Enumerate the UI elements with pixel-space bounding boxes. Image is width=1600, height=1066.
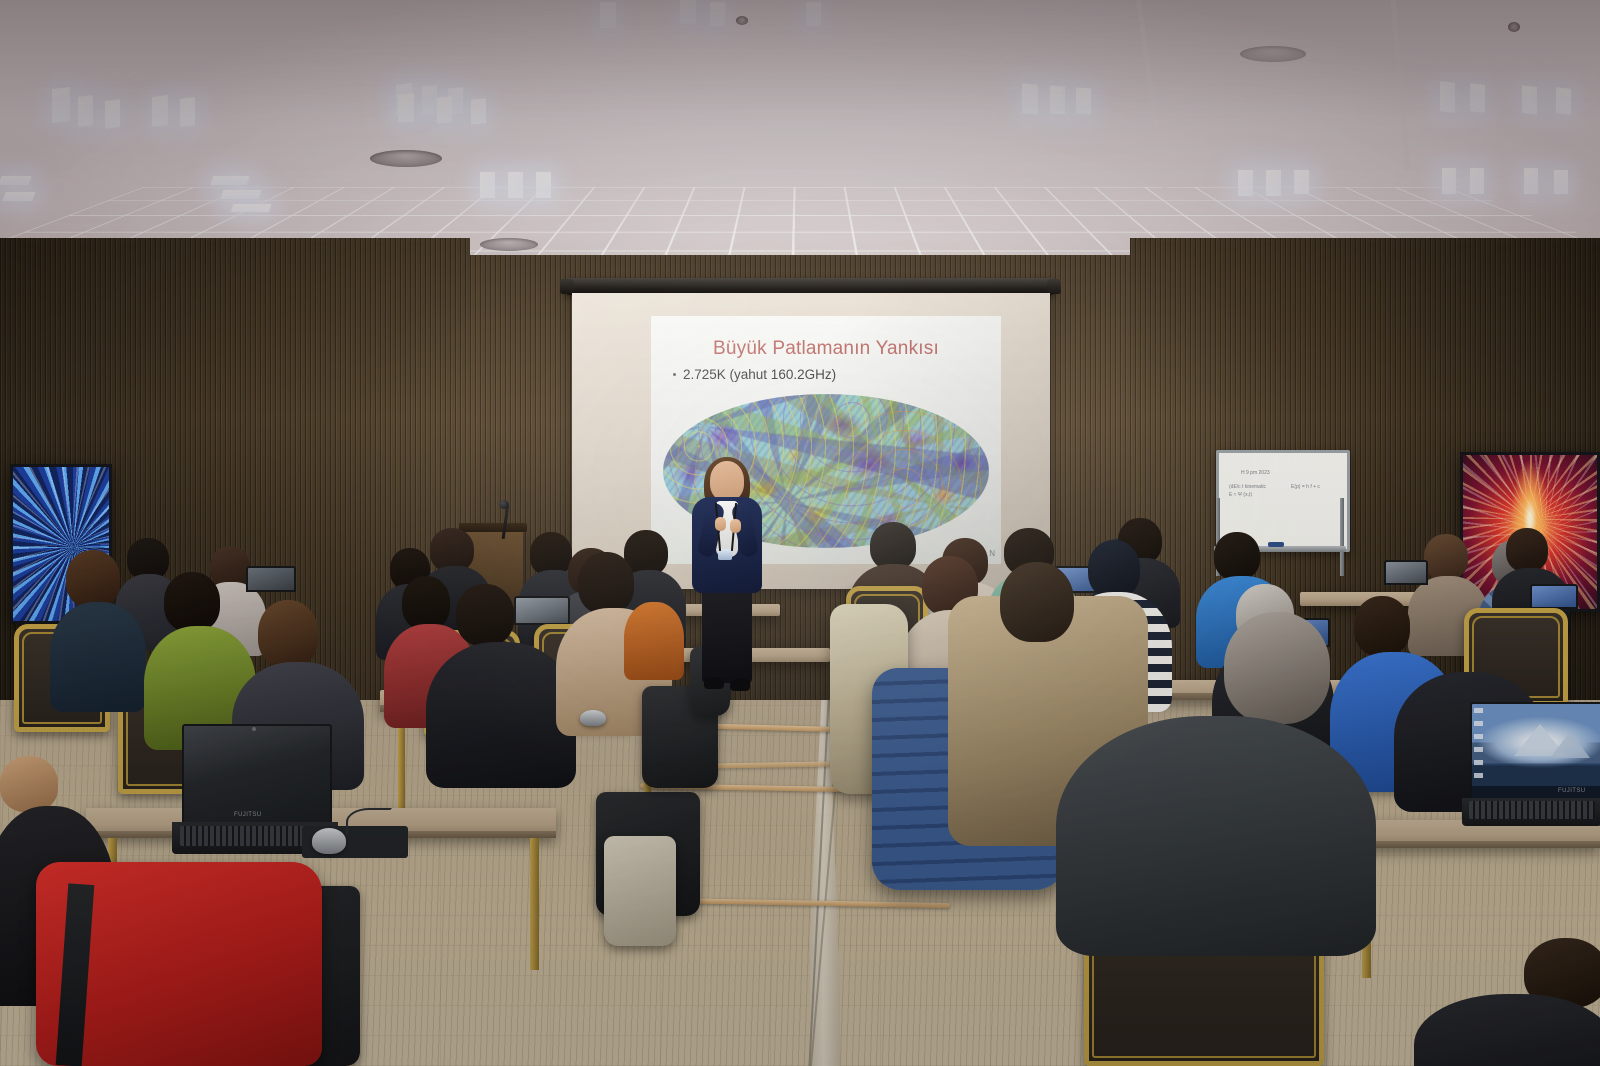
presenter-head bbox=[710, 461, 744, 501]
head bbox=[1424, 534, 1468, 580]
head bbox=[1506, 528, 1548, 572]
laptop-brand-label: FUJITSU bbox=[234, 812, 261, 818]
torso bbox=[1056, 716, 1376, 956]
torso bbox=[624, 602, 684, 680]
head bbox=[578, 552, 634, 614]
head bbox=[870, 522, 916, 570]
head bbox=[1088, 540, 1140, 598]
head bbox=[402, 576, 450, 630]
torso bbox=[50, 602, 146, 712]
torso bbox=[426, 642, 576, 788]
laptop[interactable] bbox=[244, 566, 294, 592]
bullet-dot bbox=[673, 373, 676, 376]
computer-mouse[interactable] bbox=[580, 710, 606, 726]
whiteboard-text-line-1: H 9 pm 2023 bbox=[1241, 469, 1270, 477]
head bbox=[164, 572, 220, 632]
presenter-trousers bbox=[702, 585, 752, 683]
blue-marker-icon bbox=[1268, 542, 1284, 547]
head bbox=[456, 584, 514, 646]
table-edge bbox=[1340, 841, 1600, 848]
laptop-screen bbox=[1384, 560, 1428, 585]
slide-title: Büyük Patlamanın Yankısı bbox=[651, 338, 1001, 360]
laptop-screen bbox=[182, 724, 332, 826]
head bbox=[258, 600, 318, 668]
screen-roller-cap bbox=[1047, 279, 1061, 294]
laptop-screen bbox=[514, 596, 570, 625]
computer-mouse[interactable] bbox=[312, 828, 346, 854]
laptop[interactable] bbox=[512, 596, 568, 626]
head bbox=[0, 756, 58, 812]
laptop-brand-label: FUJITSU bbox=[1558, 788, 1585, 794]
wallpaper-mountain-icon bbox=[1550, 732, 1590, 758]
whiteboard-text-line-4: E(p) = h f + c bbox=[1291, 483, 1320, 491]
head bbox=[1214, 532, 1260, 580]
head bbox=[66, 550, 120, 608]
slide-bullet: 2.725K (yahut 160.2GHz) bbox=[673, 367, 836, 382]
laptop[interactable] bbox=[1382, 560, 1426, 586]
presenter-hand bbox=[730, 519, 741, 533]
laptop[interactable] bbox=[1528, 584, 1576, 610]
laptop-screen bbox=[246, 566, 296, 592]
slide-bullet-text: 2.725K (yahut 160.2GHz) bbox=[683, 367, 836, 382]
presenter-hand bbox=[715, 517, 726, 531]
black-backpack bbox=[604, 836, 676, 946]
mouse-cable bbox=[346, 808, 392, 836]
presenter-shoe bbox=[730, 679, 750, 691]
presenter-shoe bbox=[704, 677, 724, 689]
screen-roller-cap bbox=[560, 279, 574, 294]
microphone-head-icon bbox=[499, 500, 509, 509]
whiteboard-leg bbox=[1340, 498, 1344, 576]
head bbox=[1224, 612, 1330, 724]
whiteboard-text-line-2: (dE/c t kinematic bbox=[1229, 483, 1266, 491]
laptop-webcam-icon bbox=[252, 727, 256, 731]
laptop-screen bbox=[1530, 584, 1578, 609]
conference-room-photo: Büyük Patlamanın Yankısı 2.725K (yahut 1… bbox=[0, 0, 1600, 1066]
lectern-top bbox=[459, 523, 527, 532]
laptop-keys[interactable] bbox=[1469, 801, 1595, 818]
head bbox=[1354, 596, 1410, 656]
table-leg bbox=[530, 838, 539, 970]
whiteboard-text-line-3: E ≈ Ψ (x,t) bbox=[1229, 491, 1252, 499]
desktop-icons[interactable] bbox=[1474, 708, 1483, 778]
ceiling-shading bbox=[0, 0, 1600, 272]
head bbox=[1000, 562, 1074, 642]
ceiling bbox=[0, 0, 1600, 272]
laptop-keyboard-deck[interactable] bbox=[1462, 798, 1600, 826]
laptop[interactable]: FUJITSU bbox=[1462, 702, 1600, 826]
